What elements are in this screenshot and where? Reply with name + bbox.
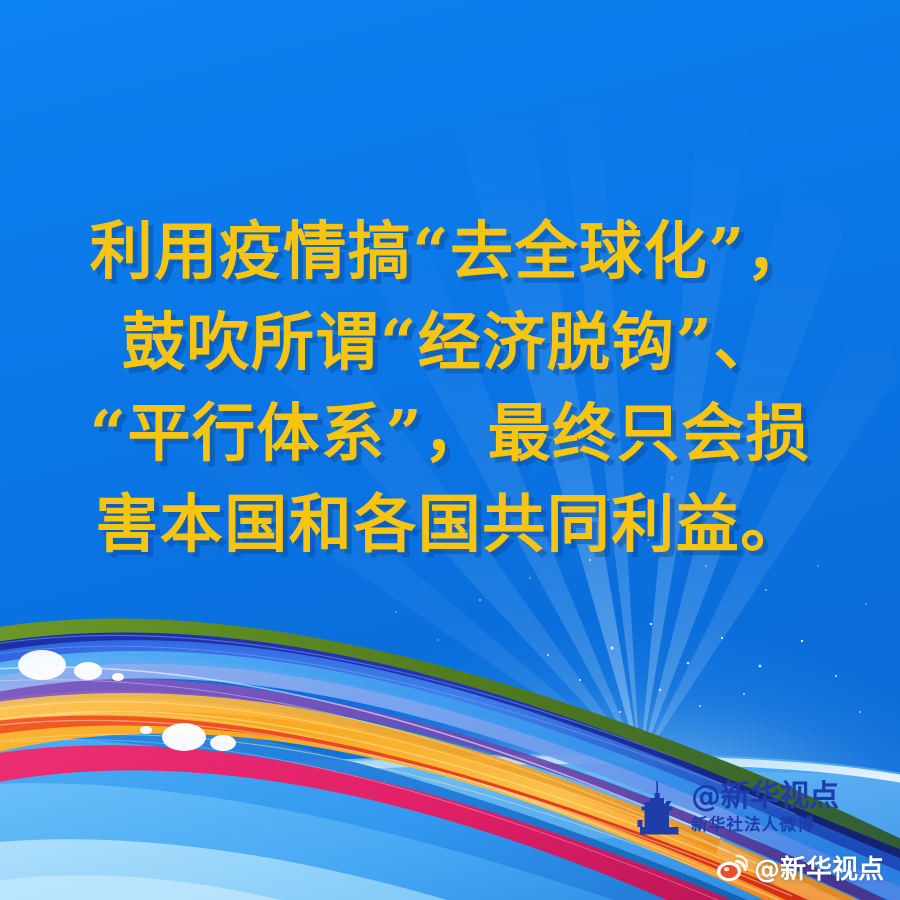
- watermark-handle: @新华视点: [754, 849, 884, 886]
- weibo-eye-icon: [716, 854, 748, 882]
- headline-block: 利用疫情搞“去全球化”， 鼓吹所谓“经济脱钩”、 “平行体系”，最终只会损 害本…: [0, 206, 900, 570]
- poster-canvas: 利用疫情搞“去全球化”， 鼓吹所谓“经济脱钩”、 “平行体系”，最终只会损 害本…: [0, 0, 900, 900]
- headline-line-1: 利用疫情搞“去全球化”，: [0, 206, 900, 297]
- brand-subtitle: 新华社法人微博: [691, 817, 839, 834]
- headline-line-4: 害本国和各国共同利益。: [0, 479, 900, 570]
- weibo-watermark: @新华视点: [716, 849, 884, 886]
- xinhua-tower-mark-icon: [636, 781, 682, 835]
- headline-line-3: “平行体系”，最终只会损: [0, 388, 900, 479]
- headline-line-2: 鼓吹所谓“经济脱钩”、: [0, 297, 900, 388]
- brand-logo: @新华视点 新华社法人微博: [636, 781, 839, 835]
- brand-handle: @新华视点: [691, 782, 839, 812]
